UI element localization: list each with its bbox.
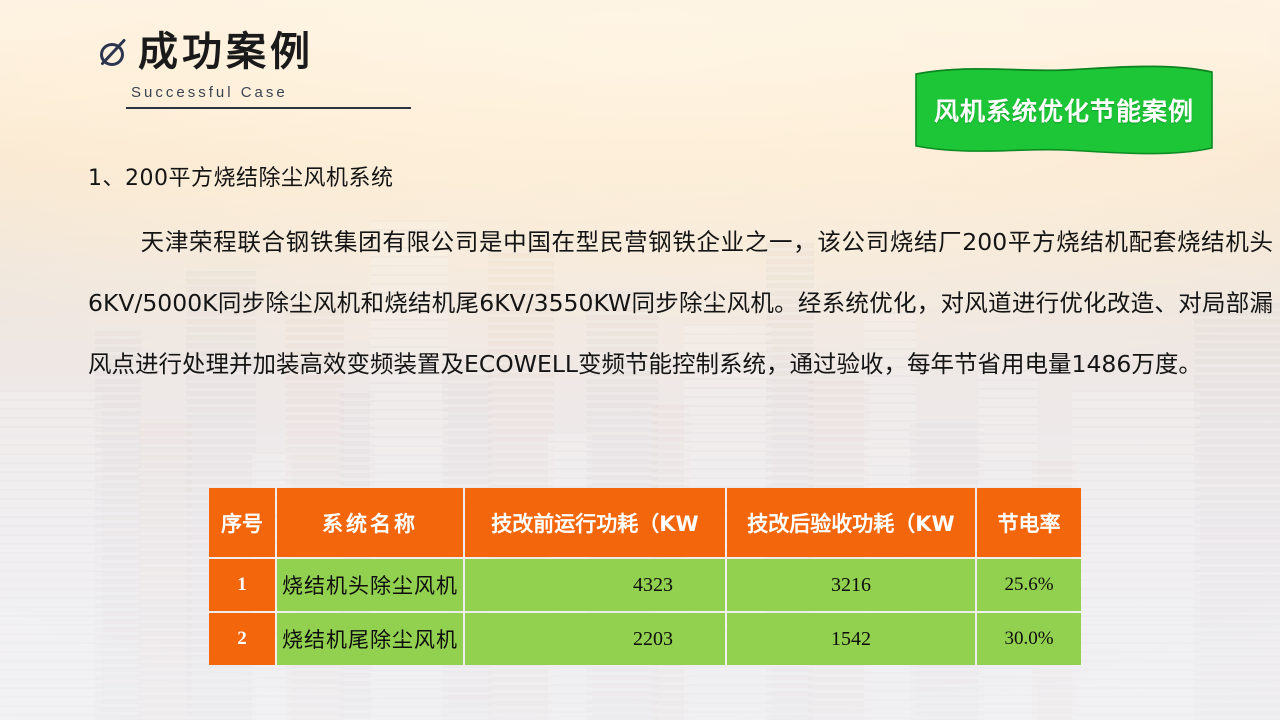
title-row: 成功案例 — [96, 32, 411, 72]
cell-after: 3216 — [727, 559, 975, 611]
cell-index: 2 — [209, 613, 275, 665]
col-header-before: 技改前运行功耗（KW — [465, 488, 725, 557]
table-header-row: 序号 系统名称 技改前运行功耗（KW 技改后验收功耗（KW 节电率 — [209, 488, 1081, 557]
col-header-index: 序号 — [209, 488, 275, 557]
paragraph-text: 天津荣程联合钢铁集团有限公司是中国在型民营钢铁企业之一，该公司烧结厂200平方烧… — [88, 228, 1273, 378]
col-header-system: 系统名称 — [277, 488, 463, 557]
slide-body: 1、200平方烧结除尘风机系统 天津荣程联合钢铁集团有限公司是中国在型民营钢铁企… — [88, 168, 1273, 395]
cell-rate: 25.6% — [977, 559, 1081, 611]
table-row: 2 烧结机尾除尘风机 2203 1542 30.0% — [209, 613, 1081, 665]
page-subtitle: Successful Case — [131, 84, 411, 101]
slide-header: 成功案例 Successful Case — [96, 32, 411, 109]
cell-system: 烧结机头除尘风机 — [277, 559, 463, 611]
ribbon-label: 风机系统优化节能案例 — [908, 92, 1220, 128]
content-paragraph: 天津荣程联合钢铁集团有限公司是中国在型民营钢铁企业之一，该公司烧结厂200平方烧… — [88, 212, 1273, 395]
col-header-rate: 节电率 — [977, 488, 1081, 557]
cell-after: 1542 — [727, 613, 975, 665]
page-title: 成功案例 — [138, 32, 314, 72]
cell-before: 4323 — [465, 559, 725, 611]
pen-slash-icon — [96, 35, 130, 69]
results-table-wrapper: 序号 系统名称 技改前运行功耗（KW 技改后验收功耗（KW 节电率 1 烧结机头… — [207, 486, 1075, 667]
cell-before: 2203 — [465, 613, 725, 665]
content-heading: 1、200平方烧结除尘风机系统 — [88, 168, 1273, 190]
results-table: 序号 系统名称 技改前运行功耗（KW 技改后验收功耗（KW 节电率 1 烧结机头… — [207, 486, 1083, 667]
col-header-after: 技改后验收功耗（KW — [727, 488, 975, 557]
table-row: 1 烧结机头除尘风机 4323 3216 25.6% — [209, 559, 1081, 611]
slide-canvas: 成功案例 Successful Case 风机系统优化节能案例 1、200平方烧… — [0, 0, 1280, 720]
cell-index: 1 — [209, 559, 275, 611]
section-ribbon: 风机系统优化节能案例 — [908, 62, 1220, 158]
title-underline — [126, 107, 411, 109]
cell-system: 烧结机尾除尘风机 — [277, 613, 463, 665]
cell-rate: 30.0% — [977, 613, 1081, 665]
